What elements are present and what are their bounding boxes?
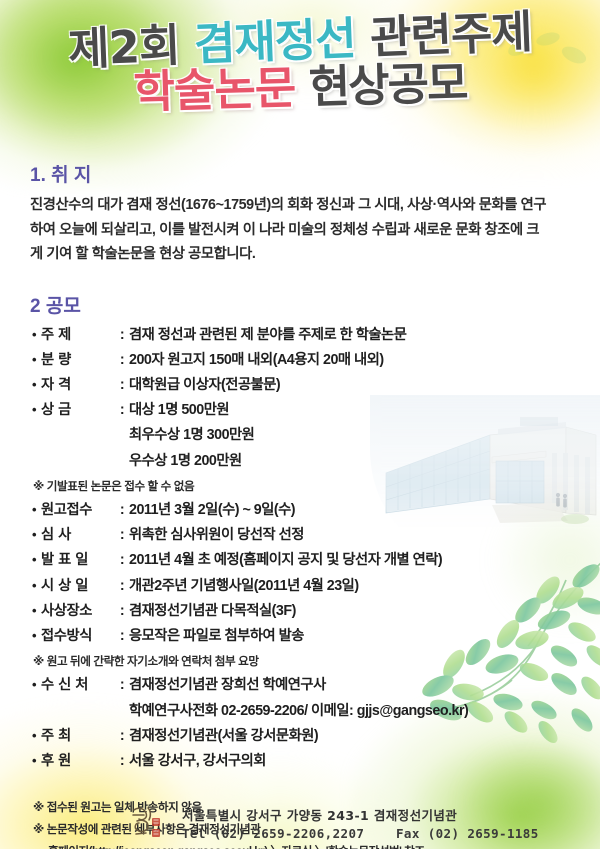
item-label: 사상장소 — [41, 600, 115, 623]
item-value: 2011년 4월 초 예정(홈페이지 공지 및 당선자 개별 연락) — [129, 549, 600, 572]
bullet-icon: • — [32, 725, 41, 746]
colon-separator: : — [115, 399, 129, 422]
list-item: • 분 량 : 200자 원고지 150매 내외(A4용지 20매 내외) — [32, 349, 600, 372]
colon-separator: : — [115, 524, 129, 547]
title-seg-5: 현상공모 — [294, 56, 467, 114]
bullet-icon: • — [32, 674, 41, 695]
item-value: 서울 강서구, 강서구의회 — [129, 750, 600, 773]
list-item: • 상 금 : 대상 1명 500만원 — [32, 399, 600, 422]
item-value: 위촉한 심사위원이 당선작 선정 — [129, 524, 600, 547]
list-item: • 후 원 : 서울 강서구, 강서구의회 — [32, 750, 600, 773]
bullet-icon: • — [32, 324, 41, 345]
item-value: 대학원급 이상자(전공불문) — [129, 374, 600, 397]
colon-separator: : — [115, 499, 129, 522]
footer-contact-block: 서울특별시 강서구 가양동 243-1 겸재정선기념관 Tel (02) 265… — [182, 807, 539, 843]
list-item: • 원고접수 : 2011년 3월 2일(수) ~ 9일(수) — [32, 499, 600, 522]
item-value: 200자 원고지 150매 내외(A4용지 20매 내외) — [129, 349, 600, 372]
poster-footer: 서울특별시 강서구 가양동 243-1 겸재정선기념관 Tel (02) 265… — [128, 804, 539, 846]
application-details-list: • 주 제 : 겸재 정선과 관련된 제 분야를 주제로 한 학술논문 • 분 … — [0, 324, 600, 773]
bullet-icon: • — [32, 374, 41, 395]
poster-canvas: 제2회 겸재정선 관련주제 학술논문 현상공모 1. 취 지 진경산수의 대가 … — [0, 0, 600, 849]
list-item: • 발 표 일 : 2011년 4월 초 예정(홈페이지 공지 및 당선자 개별… — [32, 549, 600, 572]
bullet-icon: • — [32, 499, 41, 520]
note-attach-bio: ※ 원고 뒤에 간략한 자기소개와 연락처 첨부 요망 — [33, 653, 600, 670]
list-item: • 주 최 : 겸재정선기념관(서울 강서문화원) — [32, 725, 600, 748]
item-label: 자 격 — [41, 374, 115, 397]
footer-phone-line: Tel (02) 2659-2206,2207 Fax (02) 2659-11… — [182, 825, 539, 843]
seal-mark-icon — [128, 804, 174, 846]
colon-separator: : — [115, 750, 129, 773]
title-seg-4: 학술논문 — [133, 61, 296, 118]
bullet-icon: • — [32, 399, 41, 420]
item-value: 대상 1명 500만원 — [129, 399, 600, 422]
colon-separator: : — [115, 600, 129, 623]
bullet-icon: • — [32, 750, 41, 771]
spacer — [0, 775, 600, 786]
item-label: 수 신 처 — [41, 674, 115, 697]
title-seg-3: 관련주제 — [354, 5, 532, 65]
bullet-icon: • — [32, 524, 41, 545]
item-value: 겸재정선기념관 다목적실(3F) — [129, 600, 600, 623]
list-item: • 접수방식 : 응모작은 파일로 첨부하여 발송 — [32, 625, 600, 648]
poster-title: 제2회 겸재정선 관련주제 학술논문 현상공모 — [0, 18, 600, 138]
list-item-continuation: 우수상 1명 200만원 — [32, 450, 600, 473]
bullet-icon: • — [32, 600, 41, 621]
list-item: • 시 상 일 : 개관2주년 기념행사일(2011년 4월 23일) — [32, 575, 600, 598]
footer-address: 서울특별시 강서구 가양동 243-1 겸재정선기념관 — [182, 807, 539, 825]
item-value: 응모작은 파일로 첨부하여 발송 — [129, 625, 600, 648]
colon-separator: : — [115, 549, 129, 572]
item-value: 2011년 3월 2일(수) ~ 9일(수) — [129, 499, 600, 522]
list-item: • 심 사 : 위촉한 심사위원이 당선작 선정 — [32, 524, 600, 547]
colon-separator: : — [115, 725, 129, 748]
note-no-published-papers: ※ 기발표된 논문은 접수 할 수 없음 — [33, 478, 600, 495]
item-value: 최우수상 1명 300만원 — [129, 424, 600, 447]
list-item: • 주 제 : 겸재 정선과 관련된 제 분야를 주제로 한 학술논문 — [32, 324, 600, 347]
list-item: • 사상장소 : 겸재정선기념관 다목적실(3F) — [32, 600, 600, 623]
item-label: 후 원 — [41, 750, 115, 773]
colon-separator: : — [115, 625, 129, 648]
item-label: 발 표 일 — [41, 549, 115, 572]
footer-tel: Tel (02) 2659-2206,2207 — [182, 826, 364, 841]
item-value: 개관2주년 기념행사일(2011년 4월 23일) — [129, 575, 600, 598]
list-item: • 수 신 처 : 겸재정선기념관 장희선 학예연구사 — [32, 674, 600, 697]
poster-body: 1. 취 지 진경산수의 대가 겸재 정선(1676~1759년)의 회화 정신… — [0, 160, 600, 849]
colon-separator: : — [115, 374, 129, 397]
item-label: 상 금 — [41, 399, 115, 422]
list-item: • 자 격 : 대학원급 이상자(전공불문) — [32, 374, 600, 397]
item-value: 겸재정선기념관 장희선 학예연구사 — [129, 674, 600, 697]
section-1-heading: 1. 취 지 — [30, 160, 600, 187]
item-label: 접수방식 — [41, 625, 115, 648]
item-label: 시 상 일 — [41, 575, 115, 598]
item-value: 우수상 1명 200만원 — [129, 450, 600, 473]
contact-detail: 학예연구사전화 02-2659-2206/ 이메일: gjjs@gangseo.… — [129, 700, 600, 723]
bullet-icon: • — [32, 549, 41, 570]
colon-separator: : — [115, 575, 129, 598]
colon-separator: : — [115, 674, 129, 697]
section-2-heading: 2 공모 — [30, 291, 600, 318]
bullet-icon: • — [32, 575, 41, 596]
bullet-icon: • — [32, 349, 41, 370]
item-label: 주 최 — [41, 725, 115, 748]
calligraphy-seal-logo — [128, 804, 174, 846]
section-1-body: 진경산수의 대가 겸재 정선(1676~1759년)의 회화 정신과 그 시대,… — [30, 193, 550, 267]
colon-separator: : — [115, 349, 129, 372]
item-label: 원고접수 — [41, 499, 115, 522]
item-label: 주 제 — [41, 324, 115, 347]
item-label: 분 량 — [41, 349, 115, 372]
bullet-icon: • — [32, 625, 41, 646]
item-value: 겸재정선기념관(서울 강서문화원) — [129, 725, 600, 748]
list-item-continuation: 최우수상 1명 300만원 — [32, 424, 600, 447]
list-item-continuation: 학예연구사전화 02-2659-2206/ 이메일: gjjs@gangseo.… — [32, 700, 600, 723]
item-label: 심 사 — [41, 524, 115, 547]
footer-fax: Fax (02) 2659-1185 — [396, 826, 539, 841]
item-value: 겸재 정선과 관련된 제 분야를 주제로 한 학술논문 — [129, 324, 600, 347]
colon-separator: : — [115, 324, 129, 347]
